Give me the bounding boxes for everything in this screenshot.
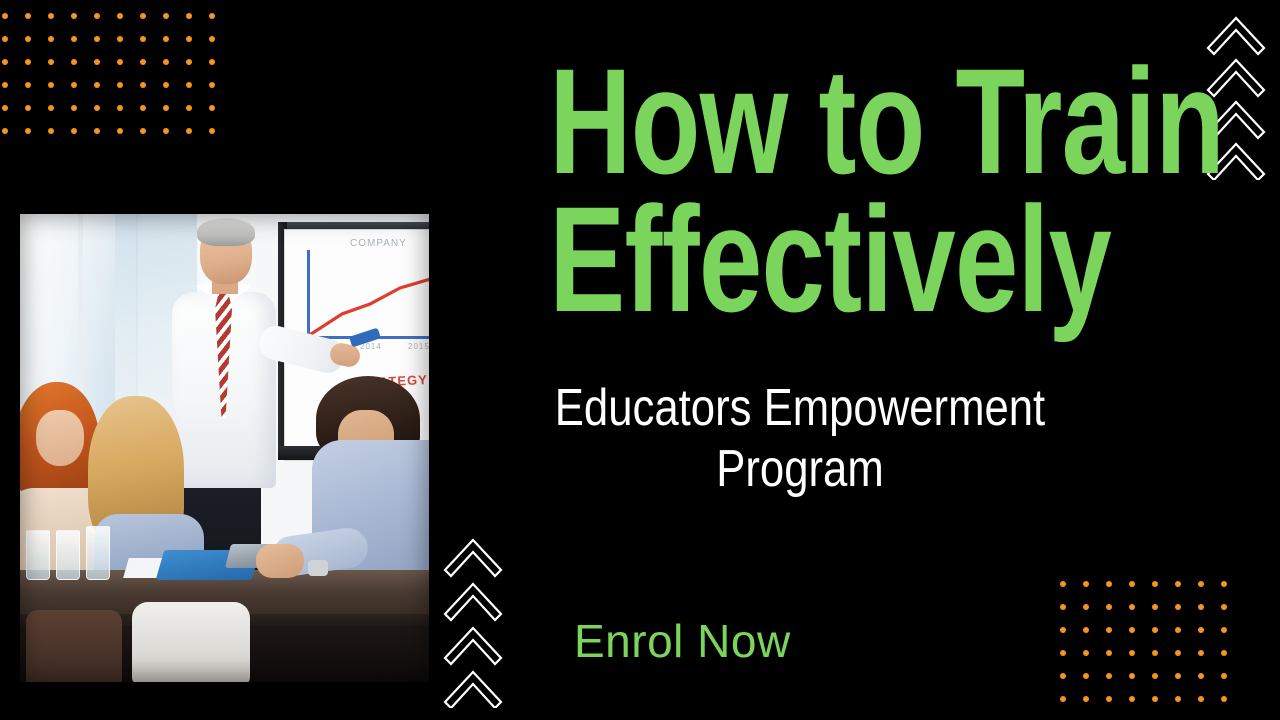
decorative-dot: [94, 82, 117, 105]
dot-grid-top-left: [2, 13, 232, 151]
decorative-dot: [140, 36, 163, 59]
decorative-dot: [1106, 627, 1129, 650]
decorative-dot: [163, 82, 186, 105]
decorative-dot: [1152, 696, 1175, 719]
decorative-dot: [1106, 650, 1129, 673]
subtitle-line-1: Educators Empowerment: [555, 379, 1045, 437]
decorative-dot: [140, 128, 163, 151]
decorative-dot: [117, 13, 140, 36]
decorative-dot: [1198, 650, 1221, 673]
decorative-dot: [1106, 673, 1129, 696]
decorative-dot: [1106, 604, 1129, 627]
decorative-dot: [163, 128, 186, 151]
decorative-dot: [1083, 627, 1106, 650]
decorative-dot: [1175, 650, 1198, 673]
decorative-dot: [71, 128, 94, 151]
chair-light: [132, 602, 250, 682]
decorative-dot: [186, 82, 209, 105]
flipchart-tick-2015: 2015: [408, 342, 429, 351]
chevron-up-icon-group: [440, 528, 510, 708]
decorative-dot: [1083, 581, 1106, 604]
decorative-dot: [1083, 673, 1106, 696]
decorative-dot: [1152, 581, 1175, 604]
decorative-dot: [1198, 696, 1221, 719]
chevron-stack-bottom-left: [440, 528, 510, 708]
decorative-dot: [209, 105, 232, 128]
decorative-dot: [94, 105, 117, 128]
decorative-dot: [117, 128, 140, 151]
decorative-dot: [117, 36, 140, 59]
decorative-dot: [1175, 673, 1198, 696]
photo-scene: COMPANY 2014 2015 STRATEGY: [20, 214, 429, 682]
decorative-dot: [2, 36, 25, 59]
decorative-dot: [48, 59, 71, 82]
decorative-dot: [25, 36, 48, 59]
decorative-dot: [140, 105, 163, 128]
decorative-dot: [1175, 627, 1198, 650]
decorative-dot: [163, 59, 186, 82]
decorative-dot: [1083, 696, 1106, 719]
decorative-dot: [1221, 627, 1244, 650]
headline-line-1: How to Train: [549, 52, 1051, 190]
decorative-dot: [117, 59, 140, 82]
decorative-dot: [1083, 604, 1106, 627]
water-glass: [56, 530, 80, 580]
decorative-dot: [1221, 696, 1244, 719]
decorative-dot: [25, 105, 48, 128]
decorative-dot: [25, 128, 48, 151]
subtitle: Educators Empowerment Program: [523, 378, 1077, 501]
decorative-dot: [48, 13, 71, 36]
decorative-dot: [140, 13, 163, 36]
decorative-dot: [1106, 696, 1129, 719]
decorative-dot: [186, 128, 209, 151]
decorative-dot: [140, 82, 163, 105]
decorative-dot: [1129, 581, 1152, 604]
decorative-dot: [1129, 673, 1152, 696]
decorative-dot: [1221, 581, 1244, 604]
decorative-dot: [1198, 673, 1221, 696]
decorative-dot: [163, 105, 186, 128]
attendee-redhead-face: [36, 410, 84, 466]
decorative-dot: [1175, 604, 1198, 627]
decorative-dot: [1129, 604, 1152, 627]
decorative-dot: [1175, 581, 1198, 604]
decorative-dot: [1060, 673, 1083, 696]
water-glass: [86, 526, 110, 580]
presenter-hair: [197, 218, 255, 246]
decorative-dot: [1198, 627, 1221, 650]
decorative-dot: [1152, 604, 1175, 627]
decorative-dot: [209, 13, 232, 36]
decorative-dot: [209, 36, 232, 59]
decorative-dot: [117, 105, 140, 128]
decorative-dot: [1106, 581, 1129, 604]
decorative-dot: [117, 82, 140, 105]
decorative-dot: [48, 105, 71, 128]
decorative-dot: [71, 59, 94, 82]
decorative-dot: [94, 59, 117, 82]
decorative-dot: [71, 82, 94, 105]
chair-dark: [26, 610, 122, 682]
decorative-dot: [1221, 650, 1244, 673]
decorative-dot: [1152, 627, 1175, 650]
decorative-dot: [2, 105, 25, 128]
decorative-dot: [1221, 604, 1244, 627]
decorative-dot: [209, 59, 232, 82]
decorative-dot: [48, 36, 71, 59]
decorative-dot: [94, 128, 117, 151]
decorative-dot: [71, 105, 94, 128]
decorative-dot: [1060, 650, 1083, 673]
decorative-dot: [2, 59, 25, 82]
decorative-dot: [1129, 650, 1152, 673]
decorative-dot: [140, 59, 163, 82]
water-glass: [26, 530, 50, 580]
decorative-dot: [71, 36, 94, 59]
decorative-dot: [71, 13, 94, 36]
decorative-dot: [1152, 673, 1175, 696]
decorative-dot: [1060, 627, 1083, 650]
promo-poster: COMPANY 2014 2015 STRATEGY: [0, 0, 1280, 720]
decorative-dot: [1060, 581, 1083, 604]
decorative-dot: [163, 13, 186, 36]
decorative-dot: [1129, 696, 1152, 719]
decorative-dot: [1060, 696, 1083, 719]
decorative-dot: [186, 59, 209, 82]
decorative-dot: [1221, 673, 1244, 696]
decorative-dot: [94, 36, 117, 59]
subtitle-line-2: Program: [716, 440, 884, 498]
wristwatch: [308, 560, 328, 576]
decorative-dot: [186, 105, 209, 128]
decorative-dot: [186, 13, 209, 36]
enrol-now-link[interactable]: Enrol Now: [574, 618, 791, 664]
decorative-dot: [163, 36, 186, 59]
attendee-man-hand: [256, 544, 304, 578]
page-title: How to Train Effectively: [549, 52, 1051, 328]
decorative-dot: [2, 82, 25, 105]
decorative-dot: [25, 59, 48, 82]
decorative-dot: [186, 36, 209, 59]
decorative-dot: [2, 128, 25, 151]
decorative-dot: [48, 82, 71, 105]
dot-grid-bottom-right: [1060, 581, 1244, 719]
decorative-dot: [1060, 604, 1083, 627]
flipchart-trend-line: [308, 274, 429, 338]
decorative-dot: [1083, 650, 1106, 673]
decorative-dot: [209, 128, 232, 151]
decorative-dot: [1198, 604, 1221, 627]
decorative-dot: [1152, 650, 1175, 673]
decorative-dot: [1129, 627, 1152, 650]
decorative-dot: [1175, 696, 1198, 719]
headline-line-2: Effectively: [549, 190, 1051, 328]
flipchart-title: COMPANY: [350, 238, 407, 249]
decorative-dot: [25, 82, 48, 105]
decorative-dot: [48, 128, 71, 151]
decorative-dot: [209, 82, 232, 105]
training-photo: COMPANY 2014 2015 STRATEGY: [20, 214, 429, 682]
decorative-dot: [25, 13, 48, 36]
decorative-dot: [2, 13, 25, 36]
decorative-dot: [1198, 581, 1221, 604]
decorative-dot: [94, 13, 117, 36]
